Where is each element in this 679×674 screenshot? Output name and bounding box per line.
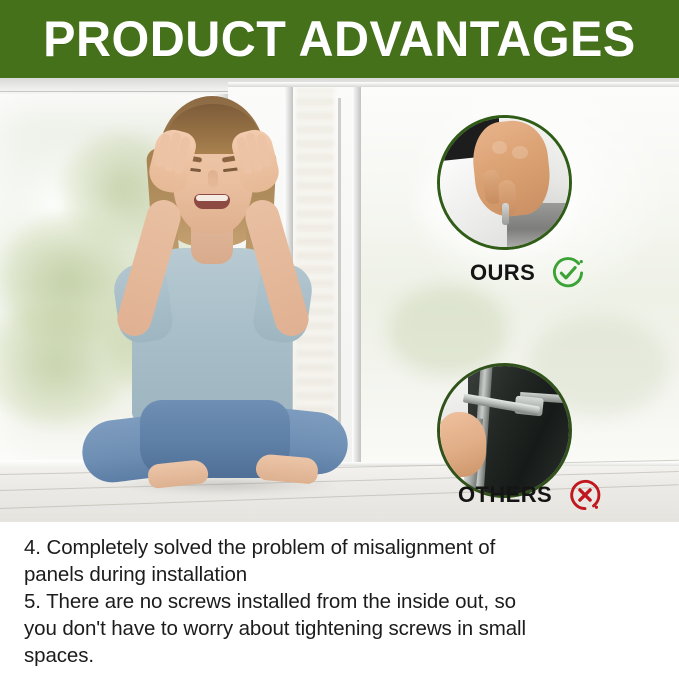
others-label-row: OTHERS xyxy=(458,478,602,512)
others-photo-inner xyxy=(440,366,569,495)
advantage-line-5: spaces. xyxy=(24,642,657,669)
advantage-line-2: panels during installation xyxy=(24,561,657,588)
header-banner: PRODUCT ADVANTAGES xyxy=(0,0,679,78)
ours-label: OURS xyxy=(470,262,535,284)
others-label: OTHERS xyxy=(458,484,552,506)
advantage-line-3: 5. There are no screws installed from th… xyxy=(24,588,657,615)
page-title: PRODUCT ADVANTAGES xyxy=(43,14,636,64)
advantage-line-4: you don't have to worry about tightening… xyxy=(24,615,657,642)
ours-photo-inner xyxy=(440,118,569,247)
advantage-line-1: 4. Completely solved the problem of misa… xyxy=(24,534,657,561)
cross-mark-icon xyxy=(568,478,602,512)
teeth xyxy=(196,195,228,201)
foot-right xyxy=(255,453,319,484)
window-mullion-center xyxy=(352,86,361,466)
advantages-text-block: 4. Completely solved the problem of misa… xyxy=(0,522,679,674)
ours-photo-circle xyxy=(437,115,572,250)
nose xyxy=(208,170,218,188)
check-mark-icon xyxy=(551,256,585,290)
mouth xyxy=(194,194,230,209)
product-lifestyle-photo: OURS OTHERS xyxy=(0,78,679,522)
ours-label-row: OURS xyxy=(470,256,585,290)
woman-figure xyxy=(60,78,340,522)
